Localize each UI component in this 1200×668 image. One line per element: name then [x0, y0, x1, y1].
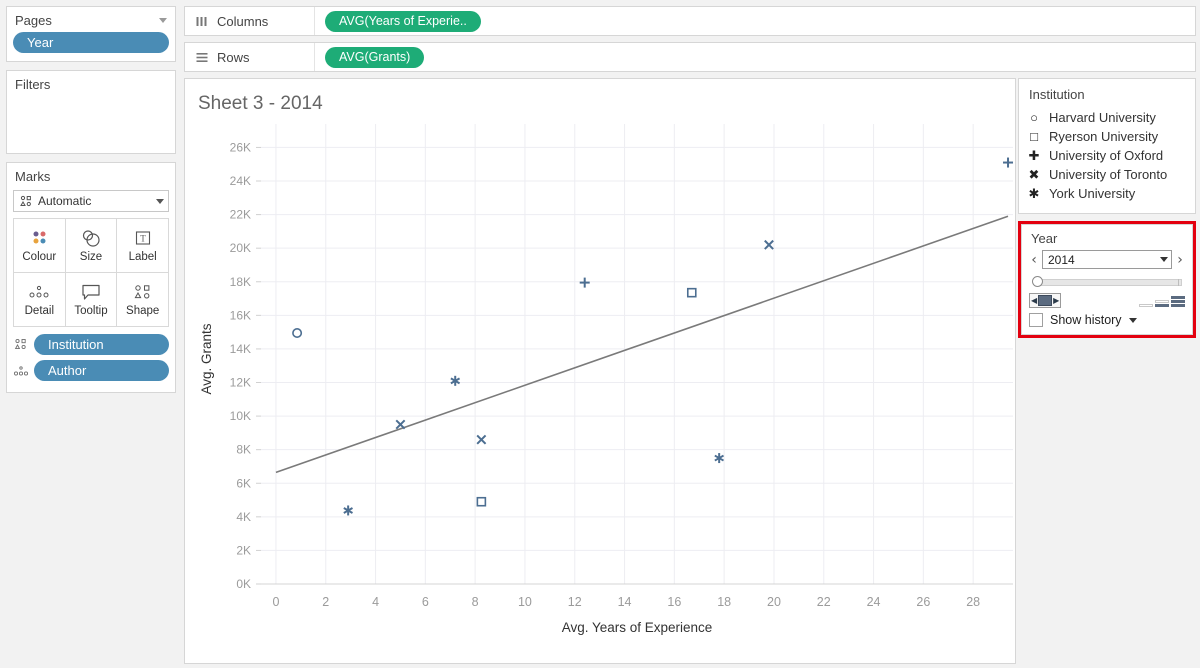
- chevron-down-icon[interactable]: [156, 199, 164, 204]
- year-playback-highlight: Year ‹ 2014 › ◀: [1018, 221, 1196, 338]
- viz-canvas[interactable]: Sheet 3 - 2014 0K2K4K6K8K10K12K14K16K18K…: [184, 78, 1016, 664]
- pages-card-header: Pages: [7, 7, 175, 32]
- cross-icon: ✖: [1027, 168, 1041, 181]
- svg-text:6K: 6K: [236, 476, 251, 490]
- label-icon: T: [135, 228, 151, 248]
- data-point-asterisk[interactable]: [451, 376, 460, 386]
- marks-type-select[interactable]: Automatic: [13, 190, 169, 212]
- square-icon: □: [1027, 130, 1041, 143]
- svg-text:T: T: [140, 234, 146, 244]
- svg-text:12: 12: [568, 595, 582, 609]
- data-point-plus[interactable]: [580, 278, 590, 288]
- svg-text:18K: 18K: [230, 275, 251, 289]
- svg-text:2K: 2K: [236, 543, 251, 557]
- shape-legend-card: Institution ○Harvard University□Ryerson …: [1018, 78, 1196, 214]
- colour-button[interactable]: Colour: [14, 219, 65, 272]
- svg-text:14K: 14K: [230, 342, 251, 356]
- detail-label: Detail: [25, 305, 54, 317]
- detail-icon: [28, 282, 50, 302]
- data-point-plus[interactable]: [1003, 158, 1013, 168]
- x-axis-title: Avg. Years of Experience: [562, 620, 713, 635]
- legend-item-label: York University: [1049, 186, 1135, 201]
- x-axis-ticks: 0246810121416182022242628: [272, 595, 980, 609]
- chevron-down-icon[interactable]: [159, 18, 167, 23]
- rows-icon: [194, 50, 210, 64]
- marks-field-institution[interactable]: Institution: [13, 334, 169, 355]
- rows-shelf-label: Rows: [185, 43, 315, 71]
- size-icon: [80, 228, 102, 248]
- svg-text:20: 20: [767, 595, 781, 609]
- tableau-worksheet: Pages Year Filters Marks Automatic: [0, 0, 1200, 668]
- marks-type-label: Automatic: [34, 194, 156, 208]
- data-point-cross[interactable]: [477, 435, 485, 443]
- data-point-asterisk[interactable]: [715, 453, 724, 463]
- svg-text:26: 26: [916, 595, 930, 609]
- automatic-marks-icon: [18, 194, 34, 208]
- marks-field-list: Institution Author: [13, 334, 169, 381]
- pages-title: Pages: [15, 13, 52, 28]
- chevron-down-icon[interactable]: [1129, 318, 1137, 323]
- scatter-plot[interactable]: 0K2K4K6K8K10K12K14K16K18K20K22K24K26K024…: [185, 79, 1015, 663]
- legend-item[interactable]: ✖University of Toronto: [1027, 165, 1187, 184]
- chevron-down-icon[interactable]: [1160, 257, 1168, 262]
- svg-text:2: 2: [322, 595, 329, 609]
- label-label: Label: [129, 251, 157, 263]
- stop-icon[interactable]: [1038, 295, 1052, 306]
- grid-lines: [261, 124, 1013, 584]
- left-panel: Pages Year Filters Marks Automatic: [0, 0, 182, 668]
- legend-item-label: Ryerson University: [1049, 129, 1158, 144]
- year-slider[interactable]: [1030, 274, 1184, 290]
- columns-icon: [194, 14, 210, 28]
- trend-line[interactable]: [276, 216, 1008, 472]
- data-point-cross[interactable]: [396, 420, 404, 428]
- legend-title: Institution: [1027, 87, 1187, 108]
- legend-item-label: Harvard University: [1049, 110, 1156, 125]
- tooltip-button[interactable]: Tooltip: [66, 273, 117, 326]
- year-nav-row: ‹ 2014 ›: [1029, 250, 1185, 269]
- pages-playback-card: Year ‹ 2014 › ◀: [1021, 224, 1193, 335]
- shape-label: Shape: [126, 305, 159, 317]
- svg-text:16K: 16K: [230, 308, 251, 322]
- data-point-square[interactable]: [477, 498, 485, 506]
- detail-card-icon: [13, 364, 29, 378]
- svg-text:20K: 20K: [230, 241, 251, 255]
- detail-button[interactable]: Detail: [14, 273, 65, 326]
- data-point-asterisk[interactable]: [344, 505, 353, 515]
- columns-text: Columns: [217, 14, 268, 29]
- svg-text:10: 10: [518, 595, 532, 609]
- svg-text:8: 8: [472, 595, 479, 609]
- columns-shelf[interactable]: Columns AVG(Years of Experie..: [184, 6, 1196, 36]
- svg-text:28: 28: [966, 595, 980, 609]
- svg-text:18: 18: [717, 595, 731, 609]
- marks-title: Marks: [7, 163, 175, 188]
- filters-title: Filters: [7, 71, 175, 96]
- svg-text:22: 22: [817, 595, 831, 609]
- columns-shelf-drop[interactable]: AVG(Years of Experie..: [315, 11, 481, 32]
- year-control-title: Year: [1029, 231, 1185, 250]
- year-value: 2014: [1046, 253, 1160, 267]
- shape-button[interactable]: Shape: [117, 273, 168, 326]
- svg-text:0K: 0K: [236, 577, 251, 591]
- legend-item-label: University of Oxford: [1049, 148, 1163, 163]
- colour-label: Colour: [22, 251, 56, 263]
- svg-text:0: 0: [272, 595, 279, 609]
- chevron-right-icon[interactable]: ›: [1175, 252, 1185, 268]
- legend-item[interactable]: ○Harvard University: [1027, 108, 1187, 127]
- svg-text:4: 4: [372, 595, 379, 609]
- shape-card-icon: [13, 338, 29, 352]
- pages-field-year[interactable]: Year: [13, 32, 169, 53]
- playback-controls[interactable]: ◀ ▶: [1029, 293, 1061, 308]
- rows-text: Rows: [217, 50, 250, 65]
- legend-item[interactable]: ✱York University: [1027, 184, 1187, 203]
- playback-speed-icon[interactable]: [1139, 294, 1185, 307]
- marks-card: Marks Automatic: [6, 162, 176, 393]
- marks-pill-institution[interactable]: Institution: [34, 334, 169, 355]
- marks-field-author[interactable]: Author: [13, 360, 169, 381]
- legend-item[interactable]: □Ryerson University: [1027, 127, 1187, 146]
- shelf-area: Columns AVG(Years of Experie.. Rows AVG(…: [184, 6, 1196, 78]
- columns-shelf-label: Columns: [185, 7, 315, 35]
- size-label: Size: [80, 251, 102, 263]
- show-history-label: Show history: [1050, 313, 1122, 327]
- marks-property-grid: Colour Size T: [13, 218, 169, 327]
- svg-text:14: 14: [618, 595, 632, 609]
- play-backward-icon[interactable]: ◀: [1031, 297, 1037, 305]
- playback-row: ◀ ▶: [1029, 293, 1185, 308]
- tooltip-label: Tooltip: [74, 305, 107, 317]
- data-points[interactable]: [293, 158, 1013, 516]
- year-dropdown[interactable]: 2014: [1042, 250, 1172, 269]
- svg-text:24K: 24K: [230, 174, 251, 188]
- circle-icon: ○: [1027, 111, 1041, 124]
- year-slider-track[interactable]: [1039, 279, 1182, 286]
- plus-icon: ✚: [1027, 149, 1041, 162]
- rows-shelf[interactable]: Rows AVG(Grants): [184, 42, 1196, 72]
- svg-text:8K: 8K: [236, 443, 251, 457]
- right-panel: Institution ○Harvard University□Ryerson …: [1018, 78, 1196, 338]
- pages-card: Pages Year: [6, 6, 176, 62]
- size-button[interactable]: Size: [66, 219, 117, 272]
- label-button[interactable]: T Label: [117, 219, 168, 272]
- show-history-checkbox[interactable]: [1029, 313, 1043, 327]
- marks-pill-author[interactable]: Author: [34, 360, 169, 381]
- legend-list: ○Harvard University□Ryerson University✚U…: [1027, 108, 1187, 203]
- svg-text:6: 6: [422, 595, 429, 609]
- columns-pill[interactable]: AVG(Years of Experie..: [325, 11, 481, 32]
- data-point-square[interactable]: [688, 289, 696, 297]
- y-axis-title: Avg. Grants: [199, 323, 214, 394]
- y-axis-ticks: 0K2K4K6K8K10K12K14K16K18K20K22K24K26K: [230, 140, 261, 591]
- chevron-left-icon[interactable]: ‹: [1029, 252, 1039, 268]
- data-point-circle[interactable]: [293, 329, 301, 337]
- svg-text:10K: 10K: [230, 409, 251, 423]
- legend-item-label: University of Toronto: [1049, 167, 1167, 182]
- svg-text:22K: 22K: [230, 208, 251, 222]
- colour-icon: [30, 228, 49, 248]
- year-slider-thumb[interactable]: [1032, 276, 1043, 287]
- svg-text:26K: 26K: [230, 140, 251, 154]
- tooltip-icon: [81, 282, 101, 302]
- svg-text:12K: 12K: [230, 376, 251, 390]
- play-forward-icon[interactable]: ▶: [1053, 297, 1059, 305]
- rows-shelf-drop[interactable]: AVG(Grants): [315, 47, 424, 68]
- legend-item[interactable]: ✚University of Oxford: [1027, 146, 1187, 165]
- svg-text:24: 24: [867, 595, 881, 609]
- rows-pill[interactable]: AVG(Grants): [325, 47, 424, 68]
- svg-text:4K: 4K: [236, 510, 251, 524]
- svg-text:16: 16: [667, 595, 681, 609]
- show-history-row[interactable]: Show history: [1029, 313, 1185, 327]
- asterisk-icon: ✱: [1027, 187, 1041, 200]
- filters-card: Filters: [6, 70, 176, 154]
- shape-icon: [133, 282, 153, 302]
